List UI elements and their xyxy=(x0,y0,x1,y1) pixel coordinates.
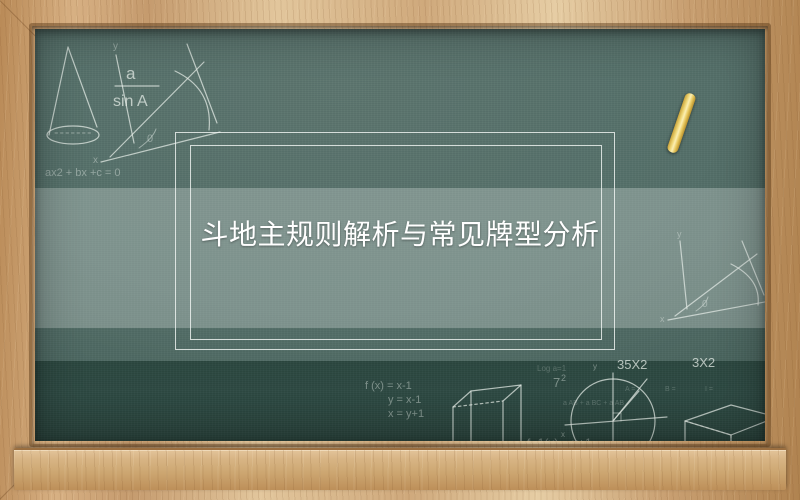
tray-wood-grain xyxy=(14,450,786,490)
board-shadow-area xyxy=(35,361,765,441)
chalk-tray xyxy=(14,448,786,490)
page-title: 斗地主规则解析与常见牌型分析 xyxy=(0,213,800,253)
chalkboard-banner: a sin A y x 0 ax2 + bx +c = 0 y xyxy=(0,0,800,500)
